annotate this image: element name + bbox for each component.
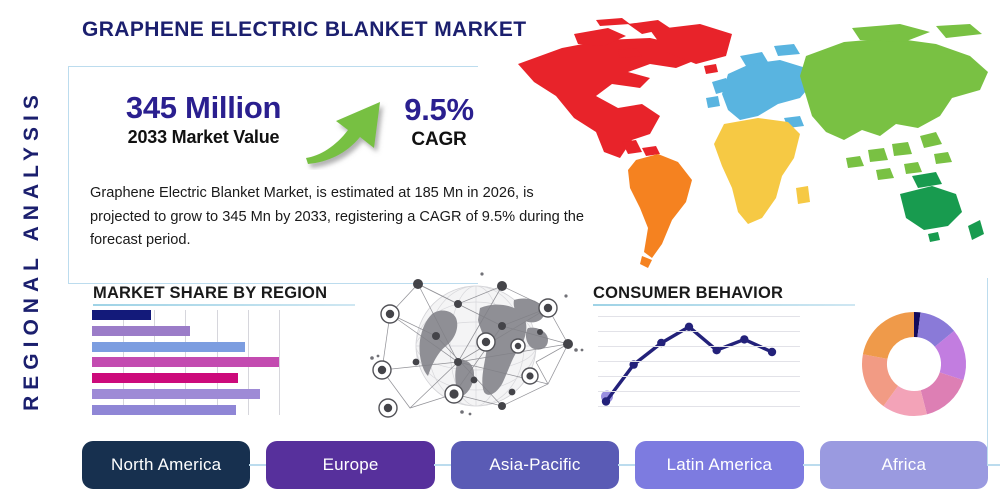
donut-chart-slices [848, 306, 980, 422]
bar-chart-bar [92, 326, 190, 336]
bar-chart-bar [92, 373, 238, 383]
bar-chart-bar [92, 357, 279, 367]
vertical-section-label: REGIONAL ANALYSIS [8, 60, 56, 440]
kpi-market-value-number: 345 Million [96, 92, 311, 125]
bar-chart-bar [92, 389, 260, 399]
growth-arrow-icon [304, 84, 396, 170]
pill-connector [803, 464, 821, 466]
region-pill-latin-america[interactable]: Latin America [635, 441, 803, 489]
kpi-cagr-number: 9.5% [384, 94, 494, 127]
kpi-cagr: 9.5% CAGR [384, 94, 494, 151]
infographic-root: REGIONAL ANALYSIS GRAPHENE ELECTRIC BLAN… [0, 0, 1000, 500]
kpi-market-value-label: 2033 Market Value [96, 127, 311, 148]
market-share-bar-chart [92, 310, 310, 415]
pill-connector [618, 464, 636, 466]
line-chart-gridlines [598, 308, 800, 416]
kpi-cagr-label: CAGR [384, 129, 494, 151]
region-pill-africa[interactable]: Africa [820, 441, 988, 489]
section-rule-market-share [93, 304, 355, 306]
segment-donut-chart [848, 306, 980, 422]
bar-chart-bar [92, 310, 151, 320]
pill-connector [249, 464, 267, 466]
donut-slice [921, 372, 964, 414]
section-rule-consumer-behavior [593, 304, 855, 306]
bar-chart-bar [92, 405, 236, 415]
world-map-icon [500, 12, 1000, 274]
bar-chart-bars [92, 310, 310, 415]
pill-connector [434, 464, 452, 466]
pill-connector-tail [987, 464, 1000, 466]
donut-slice [863, 312, 914, 359]
kpi-market-value: 345 Million 2033 Market Value [96, 92, 311, 148]
section-heading-consumer-behavior: CONSUMER BEHAVIOR [593, 284, 783, 303]
region-pill-europe[interactable]: Europe [266, 441, 434, 489]
consumer-behavior-line-chart [598, 308, 800, 416]
vertical-section-label-text: REGIONAL ANALYSIS [20, 89, 44, 411]
region-pill-row: North AmericaEuropeAsia-PacificLatin Ame… [82, 441, 988, 489]
region-pill-asia-pacific[interactable]: Asia-Pacific [451, 441, 619, 489]
kpi-block: 345 Million 2033 Market Value 9.5% CAGR [86, 92, 486, 172]
bar-chart-bar [92, 342, 245, 352]
page-title: GRAPHENE ELECTRIC BLANKET MARKET [82, 18, 526, 42]
global-network-globe-icon [362, 266, 590, 428]
region-pill-north-america[interactable]: North America [82, 441, 250, 489]
section-heading-market-share: MARKET SHARE BY REGION [93, 284, 327, 303]
right-frame-edge [987, 278, 989, 464]
